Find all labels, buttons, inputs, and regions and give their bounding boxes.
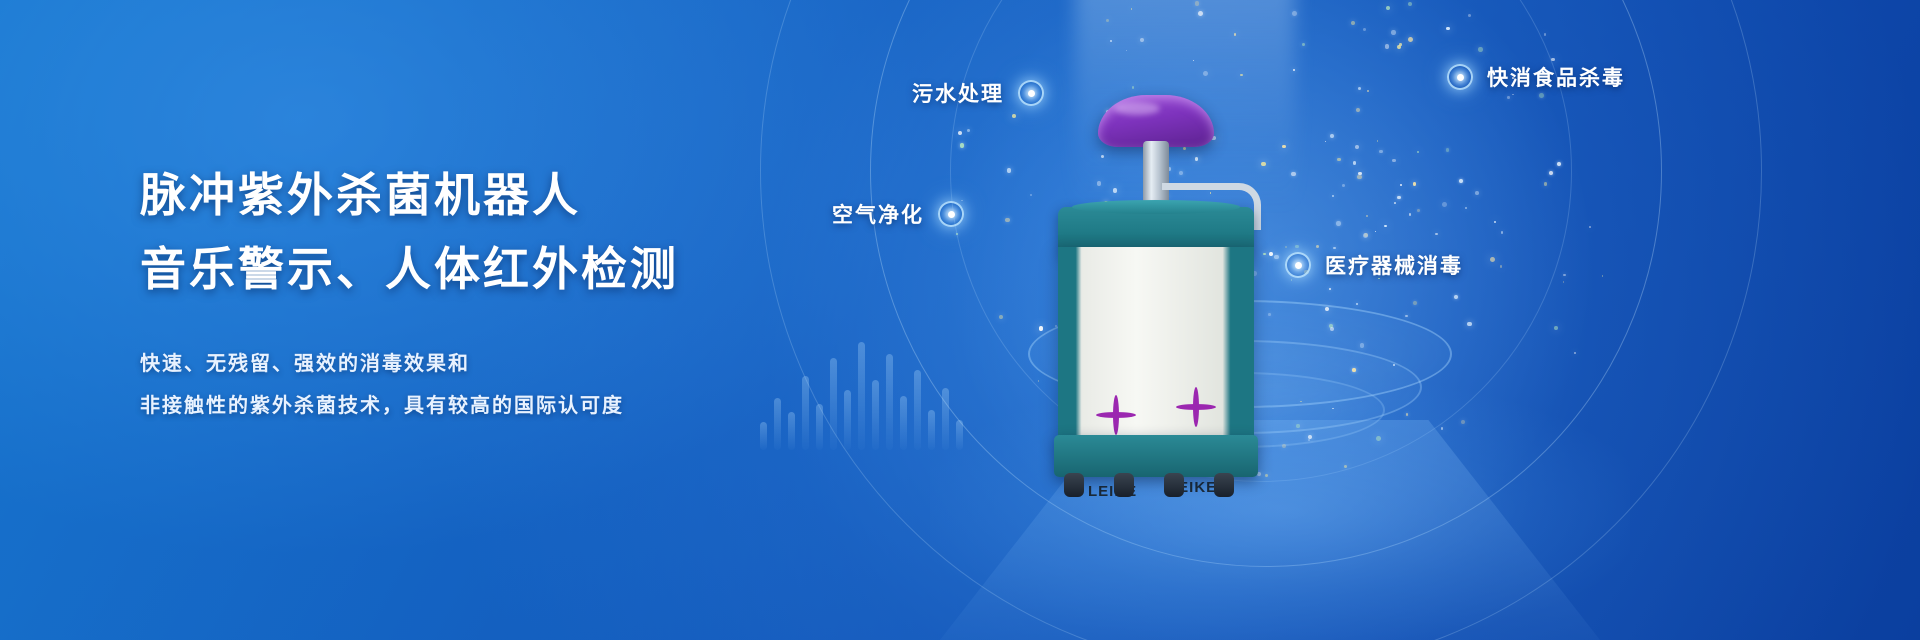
device-body: LEIKE LEIKE [1058,247,1254,443]
headline-line-2: 音乐警示、人体红外检测 [140,234,860,304]
sparkle-star-icon [1176,387,1216,427]
feature-food-disinfection: 快消食品杀毒 [1447,62,1625,92]
feature-label: 快消食品杀毒 [1487,62,1625,92]
device-wheel [1214,473,1234,497]
device-wheel [1114,473,1134,497]
sub-line-1: 快速、无残留、强效的消毒效果和 [140,342,860,384]
promo-banner: 脉冲紫外杀菌机器人 音乐警示、人体红外检测 快速、无残留、强效的消毒效果和 非接… [0,0,1920,640]
device-wheel [1064,473,1084,497]
sub-line-2: 非接触性的紫外杀菌技术，具有较高的国际认可度 [140,384,860,426]
feature-medical-device-disinfection: 医疗器械消毒 [1285,250,1463,280]
feature-label: 医疗器械消毒 [1325,250,1463,280]
device-wheel [1164,473,1184,497]
node-dot-icon [1447,64,1473,90]
feature-label: 污水处理 [912,78,1004,108]
uv-robot-illustration: LEIKE LEIKE [1030,95,1280,495]
sub-copy-block: 快速、无残留、强效的消毒效果和 非接触性的紫外杀菌技术，具有较高的国际认可度 [140,342,860,426]
headline-line-1: 脉冲紫外杀菌机器人 [140,160,860,230]
feature-label: 空气净化 [832,199,924,229]
feature-air-purification: 空气净化 [832,199,964,229]
device-base [1054,435,1258,477]
feature-water-treatment: 污水处理 [912,78,1044,108]
sparkle-star-icon [1096,395,1136,435]
uv-lamp-dome [1098,95,1214,147]
node-dot-icon [1285,252,1311,278]
node-dot-icon [938,201,964,227]
copy-block: 脉冲紫外杀菌机器人 音乐警示、人体红外检测 快速、无残留、强效的消毒效果和 非接… [140,160,860,426]
